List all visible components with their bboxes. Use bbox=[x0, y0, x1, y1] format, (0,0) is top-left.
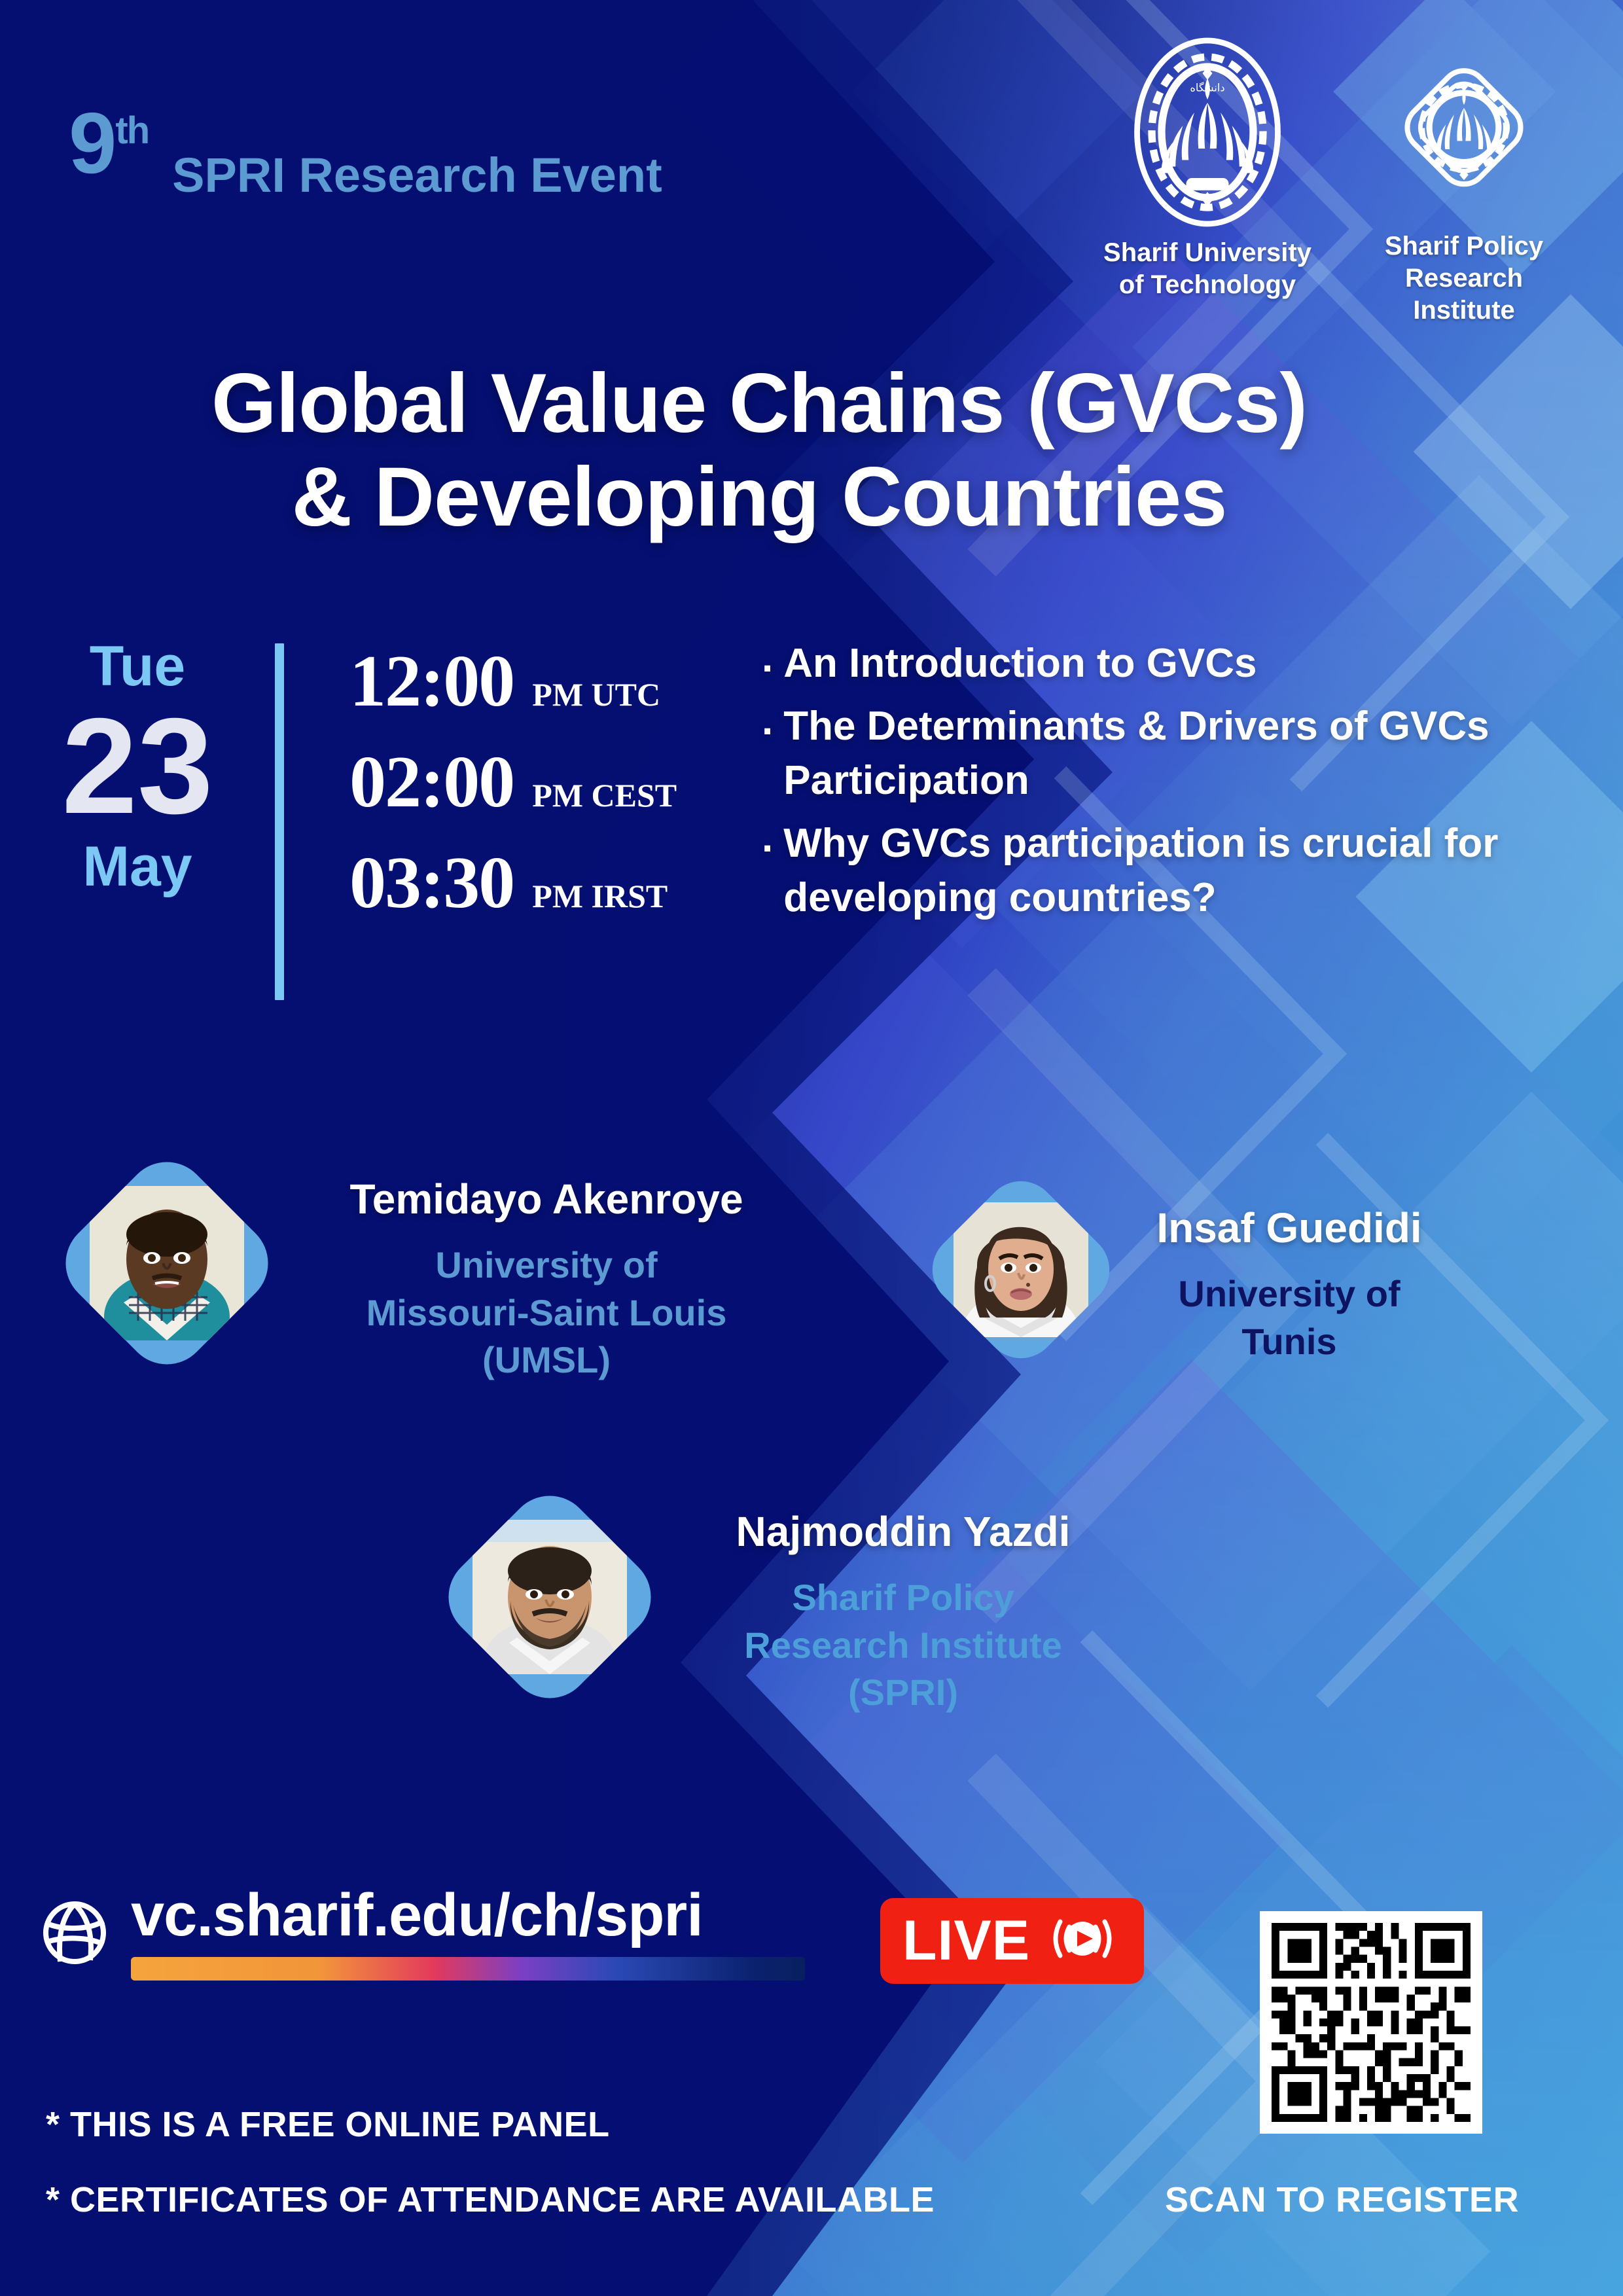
svg-text:دانشگاه: دانشگاه bbox=[1190, 82, 1224, 94]
speaker-text-block: Najmoddin Yazdi Sharif Policy Research I… bbox=[687, 1492, 1119, 1717]
topic-bullet-icon: . bbox=[762, 700, 773, 808]
speaker-affiliation: University of Missouri-Saint Louis (UMSL… bbox=[304, 1242, 789, 1384]
timezone-list: 12:00 PM UTC 02:00 PM CEST 03:30 PM IRST bbox=[284, 625, 742, 1000]
speaker-photo-insaf-guedidi bbox=[918, 1166, 1125, 1374]
speaker-card-insaf-guedidi: Insaf Guedidi University of Tunis bbox=[929, 1178, 1440, 1365]
sharif-policy-institute-caption: Sharif Policy Research Institute bbox=[1356, 230, 1572, 326]
logo-sharif-policy-institute: Sharif Policy Research Institute bbox=[1356, 34, 1572, 326]
event-ordinal-suffix: th bbox=[115, 109, 149, 152]
topic-item: . The Determinants & Drivers of GVCs Par… bbox=[762, 700, 1577, 808]
time-clock: 03:30 bbox=[349, 846, 514, 920]
topic-text: Why GVCs participation is crucial for de… bbox=[783, 817, 1577, 925]
speaker-card-najmoddin-yazdi: Najmoddin Yazdi Sharif Policy Research I… bbox=[445, 1492, 1119, 1717]
live-badge: LIVE bbox=[880, 1898, 1144, 1984]
timezone-row: 12:00 PM UTC bbox=[349, 645, 742, 718]
topic-item: . An Introduction to GVCs bbox=[762, 637, 1577, 691]
event-ordinal-row: 9th SPRI Research Event bbox=[69, 108, 662, 203]
vertical-divider bbox=[275, 643, 284, 1000]
speaker-photo-frame bbox=[929, 1178, 1113, 1361]
event-date-block: Tue 23 May bbox=[0, 625, 275, 1000]
speaker-name: Najmoddin Yazdi bbox=[687, 1507, 1119, 1557]
topic-text: An Introduction to GVCs bbox=[783, 637, 1257, 691]
organization-logos: دانشگاه Sharif University of Technology bbox=[1099, 34, 1572, 326]
logo-sharif-university: دانشگاه Sharif University of Technology bbox=[1099, 34, 1315, 301]
scan-to-register-label: SCAN TO REGISTER bbox=[1165, 2179, 1519, 2220]
event-series-label: SPRI Research Event bbox=[172, 147, 662, 203]
event-poster: 9th SPRI Research Event bbox=[0, 0, 1623, 2296]
time-zone: PM IRST bbox=[532, 877, 668, 915]
speaker-affiliation: Sharif Policy Research Institute (SPRI) bbox=[687, 1574, 1119, 1717]
time-zone: PM CEST bbox=[532, 776, 677, 814]
speaker-photo-frame bbox=[445, 1492, 654, 1702]
time-clock: 12:00 bbox=[349, 645, 514, 718]
speaker-photo-najmoddin-yazdi bbox=[431, 1479, 668, 1715]
speaker-card-temidayo-akenroye: Temidayo Akenroye University of Missouri… bbox=[62, 1158, 789, 1384]
poster-title-line-1: Global Value Chains (GVCs) bbox=[0, 357, 1518, 450]
speaker-name: Temidayo Akenroye bbox=[304, 1174, 789, 1225]
sharif-policy-institute-seal-icon bbox=[1389, 34, 1539, 224]
time-clock: 02:00 bbox=[349, 745, 514, 819]
gradient-underline-bar bbox=[131, 1957, 805, 1981]
globe-icon bbox=[41, 1899, 109, 1967]
sharif-university-caption: Sharif University of Technology bbox=[1103, 237, 1311, 301]
live-label: LIVE bbox=[902, 1912, 1030, 1969]
topic-item: . Why GVCs participation is crucial for … bbox=[762, 817, 1577, 925]
topic-bullet-icon: . bbox=[762, 817, 773, 925]
event-ordinal: 9th bbox=[69, 108, 149, 179]
footer-note-certificates: * CERTIFICATES OF ATTENDANCE ARE AVAILAB… bbox=[46, 2179, 935, 2220]
timezone-row: 03:30 PM IRST bbox=[349, 846, 742, 920]
topic-bullet-icon: . bbox=[762, 637, 773, 691]
poster-title: Global Value Chains (GVCs) & Developing … bbox=[0, 357, 1623, 545]
date-day-of-week: Tue bbox=[0, 638, 275, 694]
time-zone: PM UTC bbox=[532, 675, 660, 713]
speaker-photo-frame bbox=[62, 1158, 272, 1368]
sharif-university-seal-icon: دانشگاه bbox=[1126, 34, 1289, 230]
speaker-photo-temidayo-akenroye bbox=[48, 1145, 285, 1382]
speaker-affiliation: University of Tunis bbox=[1139, 1270, 1440, 1366]
qr-code-icon bbox=[1260, 1911, 1482, 2134]
schedule-and-topics-row: Tue 23 May 12:00 PM UTC 02:00 PM CEST 03… bbox=[0, 625, 1623, 1000]
broadcast-play-icon bbox=[1043, 1909, 1122, 1972]
speaker-text-block: Insaf Guedidi University of Tunis bbox=[1139, 1178, 1440, 1365]
event-link-row[interactable]: vc.sharif.edu/ch/spri bbox=[41, 1885, 805, 1981]
speaker-text-block: Temidayo Akenroye University of Missouri… bbox=[304, 1158, 789, 1384]
date-day-number: 23 bbox=[0, 697, 275, 836]
event-ordinal-number: 9 bbox=[69, 95, 115, 191]
footer-note-free-panel: * THIS IS A FREE ONLINE PANEL bbox=[46, 2104, 610, 2145]
topic-list: . An Introduction to GVCs . The Determin… bbox=[742, 625, 1623, 1000]
timezone-row: 02:00 PM CEST bbox=[349, 745, 742, 819]
poster-title-line-2: & Developing Countries bbox=[0, 450, 1518, 544]
speaker-name: Insaf Guedidi bbox=[1139, 1203, 1440, 1253]
event-url[interactable]: vc.sharif.edu/ch/spri bbox=[131, 1885, 805, 1945]
date-month: May bbox=[0, 838, 275, 895]
topic-text: The Determinants & Drivers of GVCs Parti… bbox=[783, 700, 1577, 808]
event-link-text-wrap: vc.sharif.edu/ch/spri bbox=[131, 1885, 805, 1981]
